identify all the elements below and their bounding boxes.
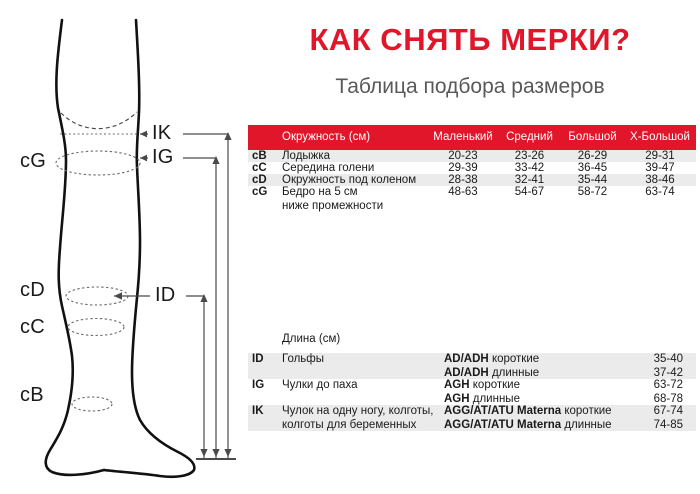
product-code: AGG/AT/ATU Materna — [444, 405, 561, 417]
section-code-col — [248, 325, 278, 353]
row-value-medium: 33-42 — [498, 162, 561, 174]
row-products: AGG/AT/ATU Materna короткие AGG/AT/ATU M… — [444, 405, 645, 431]
row-value-medium: 54-67 — [498, 186, 561, 212]
row-value: 68-78 — [645, 393, 683, 405]
row-values: 63-72 68-78 — [645, 379, 696, 405]
row-value-small: 48-63 — [428, 186, 498, 212]
page-title: КАК СНЯТЬ МЕРКИ? — [245, 22, 695, 58]
diagram-label-ik: IK — [152, 122, 171, 145]
row-products: AD/ADH короткие AD/ADH длинные — [444, 353, 645, 379]
table-row: IG Чулки до паха AGH короткие AGH длинны… — [248, 379, 696, 405]
section-label: Длина (см) — [278, 325, 696, 353]
row-value-large: 26-29 — [561, 150, 624, 162]
product-line: AGG/AT/ATU Materna длинные — [444, 419, 645, 431]
product-line: AD/ADH короткие — [444, 353, 645, 365]
header-size-xlarge: Х-Большой — [624, 125, 696, 150]
product-code: AD/ADH — [444, 353, 489, 365]
diagram-label-ig: IG — [152, 146, 174, 169]
product-modifier: короткие — [473, 379, 520, 391]
row-value-large: 35-44 — [561, 174, 624, 186]
row-value-xlarge: 29-31 — [624, 150, 696, 162]
table-row: ID Гольфы AD/ADH короткие AD/ADH длинные… — [248, 353, 696, 379]
header-measure-label: Окружность (см) — [278, 125, 428, 150]
diagram-label-cb: cB — [20, 384, 44, 407]
row-products: AGH короткие AGH длинные — [444, 379, 645, 405]
leg-illustration — [0, 0, 245, 494]
table-row: cB Лодыжка 20-23 23-26 26-29 29-31 — [248, 150, 696, 162]
row-value-xlarge: 63-74 — [624, 186, 696, 212]
table-header-row: Окружность (см) Маленький Средний Большо… — [248, 125, 696, 150]
row-value: 74-85 — [645, 419, 683, 431]
row-value-small: 28-38 — [428, 174, 498, 186]
product-line: AGH длинные — [444, 393, 645, 405]
page-subtitle: Таблица подбора размеров — [245, 75, 695, 99]
product-line: AGG/AT/ATU Materna короткие — [444, 405, 645, 417]
row-name: Бедро на 5 см ниже промежности — [278, 186, 428, 212]
row-code: cD — [248, 174, 278, 186]
row-code: cB — [248, 150, 278, 162]
product-code: AGG/AT/ATU Materna — [444, 419, 561, 431]
row-value: 37-42 — [645, 367, 683, 379]
length-section-header: Длина (см) — [248, 325, 696, 353]
row-name: Чулок на одну ногу, колготы, колготы для… — [278, 405, 444, 431]
table-row: cD Окружность под коленом 28-38 32-41 35… — [248, 174, 696, 186]
row-code: cG — [248, 186, 278, 212]
row-name-line2: колготы для беременных — [282, 419, 444, 431]
header-size-medium: Средний — [498, 125, 561, 150]
row-value-medium: 32-41 — [498, 174, 561, 186]
diagram-label-cc: cC — [20, 316, 45, 339]
product-modifier: длинные — [473, 393, 520, 405]
row-value-large: 58-72 — [561, 186, 624, 212]
row-value: 35-40 — [645, 353, 683, 365]
row-code: ID — [248, 353, 278, 379]
leg-measurement-diagram: cG cD cC cB IK IG ID — [0, 0, 245, 494]
diagram-label-cg: cG — [20, 150, 46, 173]
row-name: Середина голени — [278, 162, 428, 174]
product-code: AD/ADH — [444, 367, 489, 379]
table-row: IK Чулок на одну ногу, колготы, колготы … — [248, 405, 696, 431]
header-size-small: Маленький — [428, 125, 498, 150]
header-code-col — [248, 125, 278, 150]
row-value-small: 20-23 — [428, 150, 498, 162]
size-chart-panel: КАК СНЯТЬ МЕРКИ? Таблица подбора размеро… — [245, 0, 700, 494]
product-line: AGH короткие — [444, 379, 645, 391]
row-value: 63-72 — [645, 379, 683, 391]
row-values: 35-40 37-42 — [645, 353, 696, 379]
circumference-table: Окружность (см) Маленький Средний Большо… — [248, 125, 696, 212]
row-name: Чулки до паха — [278, 379, 444, 405]
row-value-small: 29-39 — [428, 162, 498, 174]
diagram-label-cd: cD — [20, 279, 45, 302]
row-values: 67-74 74-85 — [645, 405, 696, 431]
product-line: AD/ADH длинные — [444, 367, 645, 379]
row-value-xlarge: 39-47 — [624, 162, 696, 174]
product-modifier: короткие — [564, 405, 611, 417]
row-code: IK — [248, 405, 278, 431]
row-value-xlarge: 38-46 — [624, 174, 696, 186]
row-code: cC — [248, 162, 278, 174]
product-modifier: длинные — [564, 419, 611, 431]
length-table: Длина (см) ID Гольфы AD/ADH короткие AD/… — [248, 325, 696, 431]
row-name-line2: ниже промежности — [282, 200, 428, 212]
row-value-medium: 23-26 — [498, 150, 561, 162]
diagram-label-id: ID — [155, 284, 175, 307]
row-name-line1: Чулок на одну ногу, колготы, — [282, 405, 444, 417]
product-code: AGH — [444, 393, 470, 405]
table-row: cG Бедро на 5 см ниже промежности 48-63 … — [248, 186, 696, 212]
row-value: 67-74 — [645, 405, 683, 417]
row-name: Окружность под коленом — [278, 174, 428, 186]
row-code: IG — [248, 379, 278, 405]
product-modifier: короткие — [492, 353, 539, 365]
row-name: Гольфы — [278, 353, 444, 379]
row-name: Лодыжка — [278, 150, 428, 162]
row-name-line1: Бедро на 5 см — [282, 186, 428, 198]
product-code: AGH — [444, 379, 470, 391]
table-row: cC Середина голени 29-39 33-42 36-45 39-… — [248, 162, 696, 174]
row-value-large: 36-45 — [561, 162, 624, 174]
product-modifier: длинные — [492, 367, 539, 379]
header-size-large: Большой — [561, 125, 624, 150]
